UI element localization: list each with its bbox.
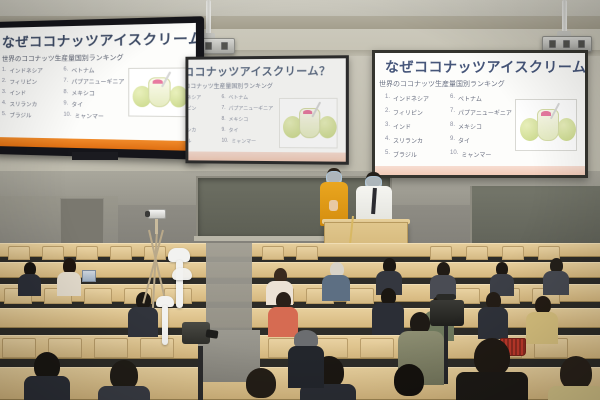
audience-body [18,274,41,296]
coconut-illustration [129,69,188,117]
ranking-item: 3. インド [188,116,218,123]
audience-member [322,262,350,298]
ranking-item: 8. メキシコ [222,116,276,123]
slide-body: 1. インドネシア 2. フィリピン 3. インド 4. スリランカ [0,63,196,141]
rank-number: 2. [385,108,390,117]
audience-head [394,364,424,396]
rank-country: インド [9,89,26,97]
projector-pole-left [206,0,211,34]
display-right-projection-screen: なぜココナッツアイスクリーム？ 世界のココナッツ生産量国別ランキング 1. イン… [372,50,588,178]
slide-body: 1. インドネシア 2. フィリピン 3. インド 4. スリランカ [375,91,585,166]
rank-country: ベトナム [458,94,482,103]
ranking-item: 7. パプアニューギニア [450,108,512,117]
rank-number: 10. [222,138,229,145]
rank-number: 9. [222,127,226,134]
rank-number: 6. [450,94,455,103]
rank-country: タイ [458,136,470,145]
seat-back [84,288,112,304]
display-left-stand [72,152,118,160]
audience-member [478,292,508,336]
audience-body [98,386,150,400]
ranking-item: 2. フィリピン [188,105,218,112]
rank-number: 4. [2,100,7,108]
coconut-illustration [280,99,337,148]
projector-lens-icon [221,42,228,50]
ranking-item: 9. タイ [450,136,512,145]
seat-back [140,338,174,358]
rank-number: 4. [385,136,390,145]
projector-lens-icon [563,40,570,48]
rank-number: 8. [450,122,455,131]
rank-country: フィリピン [9,78,37,86]
ranking-item: 7. パプアニューギニア [222,105,276,112]
rank-number: 1. [2,67,7,75]
video-camera [430,300,464,326]
audience-member-beanie [288,330,324,386]
video-camera [148,209,166,219]
projector-lens-icon [205,42,212,50]
seat-back [502,246,524,260]
rank-country: ミャンマー [461,150,491,159]
seat-back [262,246,284,260]
rank-number: 10. [63,112,71,120]
slide-thumbnail [128,67,189,117]
rank-country: スリランカ [188,127,196,134]
rank-number: 7. [222,105,226,112]
rank-country: スリランカ [393,136,423,145]
ranking-item: 6. ベトナム [222,94,276,101]
rank-number: 8. [222,116,226,123]
rank-country: フィリピン [188,105,196,112]
ranking-item: 7. パプアニューギニア [63,77,124,85]
rank-country: ベトナム [229,94,249,101]
rank-number: 6. [63,66,68,74]
projector-lens-icon [549,40,556,48]
rank-number: 3. [2,89,7,97]
audience-member-foreground [456,338,528,400]
slide-subtitle: 世界のココナッツ生産量国別ランキング [188,81,345,93]
seat-back [296,246,318,260]
audience-body [478,307,508,339]
audience-body [322,275,350,301]
audience-member-foreground [548,356,600,400]
ranking-item: 4. スリランカ [385,136,447,145]
coconut-illustration [516,100,576,150]
rank-number: 5. [385,150,390,159]
lecture-hall-photo: なぜココナッツアイスクリーム？ 世界のココナッツ生産量国別ランキング 1. イン… [0,0,600,400]
display-center-projection-screen: なぜココナッツアイスクリーム？ 世界のココナッツ生産量国別ランキング 1. イン… [185,55,348,165]
desk-row [0,308,600,328]
seat-back [346,288,374,304]
slide-title: なぜココナッツアイスクリーム？ [188,58,345,81]
rank-country: タイ [71,100,83,108]
rank-country: パプアニューギニア [229,105,273,112]
audience-member [526,296,558,340]
display-left-flat-panel: なぜココナッツアイスクリーム？ 世界のココナッツ生産量国別ランキング 1. イン… [0,16,204,160]
rank-number: 7. [63,78,68,86]
audience-body [24,376,70,400]
ranking-item: 3. インド [2,89,60,97]
ranking-item: 1. インドネシア [2,66,60,75]
ranking-item: 9. タイ [63,100,124,109]
rank-country: ブラジル [9,111,31,119]
ranking-item: 6. ベトナム [450,94,512,103]
audience-head [560,356,592,390]
tripod-column [155,218,158,234]
rank-number: 6. [222,94,226,101]
boom-microphone [172,268,192,280]
audience-body [128,307,158,337]
slide-thumbnail [279,98,338,149]
ranking-item: 4. スリランカ [2,100,60,109]
audience-body [456,372,528,400]
audience-member [543,258,569,292]
rank-number: 7. [450,108,455,117]
rank-country: フィリピン [393,108,423,117]
audience-member-foreground [232,368,288,400]
rank-country: ブラジル [188,138,191,145]
ranking-item: 10. ミャンマー [450,150,512,159]
rank-country: ミャンマー [75,112,104,121]
ranking-item: 6. ベトナム [63,66,124,75]
audience-member [56,258,82,294]
rank-number: 9. [63,100,68,108]
rank-number: 9. [450,136,455,145]
projector-lens-icon [578,40,585,48]
rank-country: ベトナム [71,66,94,74]
side-door [60,198,104,246]
ranking-item: 1. インドネシア [188,94,218,101]
ranking-item: 10. ミャンマー [222,138,276,145]
camera-lens-icon [206,329,219,339]
ranking-column-left: 1. インドネシア 2. フィリピン 3. インド 4. スリランカ [385,91,447,166]
seat-back [466,246,488,260]
rank-number: 2. [2,78,7,86]
ranking-item: 5. ブラジル [385,150,447,159]
ranking-item: 2. フィリピン [385,108,447,117]
ranking-item: 1. インドネシア [385,94,447,103]
slide-footer-bar [375,166,585,175]
seat-back [8,246,30,260]
slide-thumbnail [515,99,577,151]
audience-member [268,292,298,334]
camera-lens-icon [145,211,150,217]
boom-microphone-pole [162,305,168,345]
laptop [82,270,96,282]
audience-body [288,346,324,388]
ranking-column-left: 1. インドネシア 2. フィリピン 3. インド 4. スリランカ [2,64,60,138]
slide-footer-bar [188,151,345,161]
chalkboard-right [470,186,600,244]
rank-country: タイ [229,127,239,134]
audience-body [57,272,81,296]
rank-number: 3. [385,122,390,131]
seat-back [94,338,128,358]
rank-country: スリランカ [9,100,37,108]
audience-head [246,368,276,398]
rank-country: インドネシア [188,94,201,101]
audience-body [548,386,600,400]
slide-left: なぜココナッツアイスクリーム？ 世界のココナッツ生産量国別ランキング 1. イン… [0,23,196,151]
audience-member-foreground [98,360,150,400]
seat-back [110,246,132,260]
rank-number: 5. [2,111,7,119]
ranking-item: 10. ミャンマー [63,112,124,121]
rank-country: メキシコ [458,122,482,131]
rank-country: インドネシア [393,94,429,103]
slide-body: 1. インドネシア 2. フィリピン 3. インド 4. スリランカ [188,92,345,153]
audience-member [430,262,456,296]
ranking-item: 5. ブラジル [188,138,218,145]
ranking-column-right: 6. ベトナム 7. パプアニューギニア 8. メキシコ 9. タイ [63,64,124,140]
ranking-column-right: 6. ベトナム 7. パプアニューギニア 8. メキシコ 9. タイ [450,91,512,166]
tripod-column [444,326,448,384]
presenter-hands [329,200,338,211]
rank-country: メキシコ [229,116,249,123]
audience-member-foreground [382,364,436,400]
ranking-item: 2. フィリピン [2,78,60,86]
slide-title: なぜココナッツアイスクリーム？ [375,53,585,79]
tripod-column [198,346,203,400]
slide-subtitle: 世界のココナッツ生産量国別ランキング [375,79,585,91]
rank-country: ブラジル [393,150,417,159]
ranking-item: 9. タイ [222,127,276,134]
audience-member-foreground [24,352,70,400]
audience-member [376,258,402,292]
ranking-item: 8. メキシコ [450,122,512,131]
audience-member [490,262,514,294]
audience-member [18,262,42,292]
rank-number: 8. [63,89,68,97]
rank-country: インドネシア [9,67,42,75]
ceiling [0,0,600,16]
rank-number: 1. [385,94,390,103]
ranking-column-left: 1. インドネシア 2. フィリピン 3. インド 4. スリランカ [188,92,218,152]
rank-number: 10. [450,150,458,159]
ranking-column-right: 6. ベトナム 7. パプアニューギニア 8. メキシコ 9. タイ [222,92,276,152]
rank-country: パプアニューギニア [71,77,124,85]
audience-body [526,312,558,344]
rank-country: ミャンマー [231,138,256,145]
seat-back [360,338,394,358]
ranking-item: 5. ブラジル [2,111,60,120]
ranking-item: 3. インド [385,122,447,131]
ranking-item: 8. メキシコ [63,89,124,97]
camera-handle [436,294,456,300]
slide-right: なぜココナッツアイスクリーム？ 世界のココナッツ生産量国別ランキング 1. イン… [375,53,585,175]
audience-body [543,271,569,295]
seat-back [430,246,452,260]
slide-title: なぜココナッツアイスクリーム？ [0,23,196,53]
ranking-item: 4. スリランカ [188,127,218,134]
rank-country: インド [393,122,411,131]
rank-country: パプアニューギニア [458,108,512,117]
audience-head [474,338,510,376]
rank-country: メキシコ [71,89,94,97]
slide-center: なぜココナッツアイスクリーム？ 世界のココナッツ生産量国別ランキング 1. イン… [188,58,345,161]
projector-pole-right [562,0,567,32]
